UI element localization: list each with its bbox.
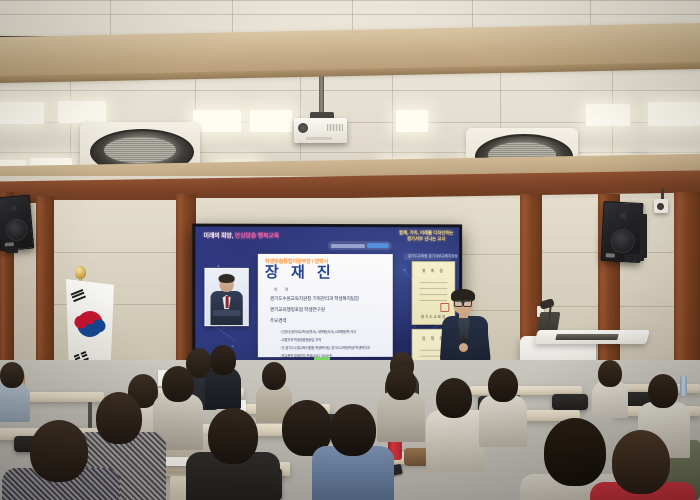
security-camera xyxy=(654,199,668,213)
audience-member-foreground xyxy=(544,418,606,486)
audience-torso xyxy=(0,382,30,422)
chair-row3[interactable] xyxy=(552,394,588,410)
wall-wood-column-left2 xyxy=(36,196,54,364)
speaker-glasses xyxy=(454,300,472,305)
speaker-arm-right xyxy=(474,323,491,364)
speaker-mount-left xyxy=(6,246,18,253)
audience-member xyxy=(210,345,236,375)
projector-label-strip xyxy=(306,137,332,140)
audience-head xyxy=(386,366,416,400)
slide-header-left-pink: 안심맞춤 행복교육 xyxy=(235,234,279,240)
slide-bullet: 경기교육행정포럼 학생연구원 xyxy=(270,307,325,313)
slide-bullet: 주요경력 xyxy=(270,318,287,324)
ceiling-light-panel xyxy=(0,102,44,124)
certificate-title: 위 촉 장 xyxy=(413,268,455,274)
speaker-tweeter xyxy=(8,204,19,213)
slide-sub-bullet: 전 경기도수원교육지원청 학생복지팀, 경기도교육청학생 학생복지과 xyxy=(280,345,370,350)
slide-profile-card: 학생맞춤통합지원부장 / 장학사 장 재 진 약 력 경기도수원교육지원청 기획… xyxy=(258,254,393,357)
audience-head xyxy=(648,374,678,408)
audience-head xyxy=(96,392,142,444)
wall-speaker-left xyxy=(0,195,34,252)
speaker-mount-right xyxy=(640,214,647,258)
audience-member xyxy=(262,362,286,390)
projector-vent xyxy=(327,124,343,131)
audience-head xyxy=(598,360,622,387)
wall-wood-column-right3 xyxy=(674,192,700,368)
audience-head xyxy=(0,362,24,388)
speaker-arm-left xyxy=(440,324,456,365)
audience-head xyxy=(612,430,670,494)
audience-member xyxy=(0,362,24,388)
speaker-woofer xyxy=(610,228,635,253)
audience-member xyxy=(598,360,622,387)
speaker-woofer xyxy=(5,218,29,242)
slide-bullet: 경기도수원교육지원청 기획관리과 학생복지팀장 xyxy=(270,296,359,302)
ceiling-light-panel xyxy=(396,110,428,132)
audience-head xyxy=(208,408,258,464)
audience-head xyxy=(488,368,518,402)
slide-bio-heading: 약 력 xyxy=(274,287,292,293)
slide-org-tag: 경기도교육청 경기서부교육지원청 xyxy=(404,253,452,260)
ceiling-light-panel xyxy=(648,102,700,126)
portrait-tie xyxy=(225,296,228,308)
portrait-crossed-arms xyxy=(213,310,241,316)
speaker-tweeter xyxy=(617,211,629,221)
audience-member-foreground xyxy=(330,404,376,456)
slide-header-right-line2: 경기서부 신나는 교사 xyxy=(399,236,453,242)
audience-member xyxy=(386,366,416,400)
audience-torso xyxy=(479,395,527,447)
audience-head xyxy=(162,366,194,402)
flag-taeguk-symbol xyxy=(72,306,108,342)
flag-trigram-top xyxy=(71,289,87,303)
projector-mount-pipe xyxy=(319,74,324,116)
audience-head xyxy=(30,420,88,482)
ceiling-light-panel xyxy=(586,104,630,126)
slide-topic-pill xyxy=(328,241,392,250)
ceiling-light-panel xyxy=(58,101,106,123)
audience-member xyxy=(488,368,518,402)
audience-head xyxy=(210,345,236,375)
slide-sub-bullet: 교원자격 학생맞춤형상담 자격 xyxy=(280,337,321,342)
slide-sub-bullet: 인천대 정치외교학과(학사), 대학원(석사) 교육행정학 석사 xyxy=(280,329,356,334)
audience-head xyxy=(544,418,606,486)
audience-member xyxy=(436,378,472,418)
slide-header-left-white: 미래의 희망, xyxy=(203,234,233,240)
audience-head xyxy=(262,362,286,390)
desk-leg xyxy=(88,402,92,428)
speaker-hand xyxy=(459,343,468,352)
audience-head xyxy=(330,404,376,456)
ceiling-light-panel xyxy=(250,110,292,132)
audience-member-foreground xyxy=(96,392,142,444)
audience-member xyxy=(648,374,678,408)
audience-torso xyxy=(426,410,484,472)
ceiling-projector xyxy=(294,118,347,143)
slide-header: 미래의 희망, 안심맞춤 행복교육 함께, 가치, 미래를 디자인하는 경기서부… xyxy=(195,231,459,245)
flag-pole-finial xyxy=(75,266,86,279)
audience-member-foreground xyxy=(208,408,258,464)
speaker-mount-right-base xyxy=(624,254,644,261)
projector-lens xyxy=(298,123,308,133)
audience-member-foreground xyxy=(30,420,88,482)
speaker-brand-badge xyxy=(606,253,615,257)
ceiling-light-panel xyxy=(193,110,241,132)
lecture-hall-photo: 미래의 희망, 안심맞춤 행복교육 함께, 가치, 미래를 디자인하는 경기서부… xyxy=(0,0,700,500)
blue-water-bottle[interactable] xyxy=(680,376,687,396)
slide-portrait-photo xyxy=(204,268,248,326)
lectern-monitor xyxy=(555,334,618,340)
slide-header-left: 미래의 희망, 안심맞춤 행복교육 xyxy=(203,231,279,240)
portrait-hair xyxy=(219,274,235,283)
slide-org-tag-text: 경기도교육청 경기서부교육지원청 xyxy=(408,254,458,259)
audience-member xyxy=(162,366,194,402)
slide-header-right: 함께, 가치, 미래를 디자인하는 경기서부 신나는 교사 xyxy=(399,230,453,242)
audience-member-foreground xyxy=(612,430,670,494)
audience-head xyxy=(436,378,472,418)
slide-presenter-name: 장 재 진 xyxy=(265,265,335,281)
